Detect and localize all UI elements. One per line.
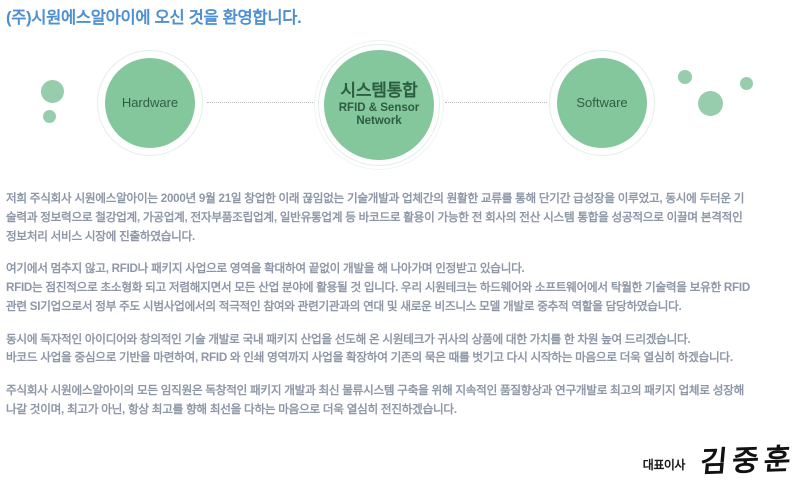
decorative-circle-icon [740,77,753,90]
paragraph-line: 여기에서 멈추지 않고, RFID나 패키지 사업으로 영역을 확대하여 끝없이… [6,260,801,279]
page-title: (주)시원에스알아이에 오신 것을 환영합니다. [6,4,301,28]
software-node-label: Software [576,95,627,110]
connector-hardware-to-center [207,102,315,103]
decorative-circle-icon [41,80,64,103]
paragraph-line: 관련 SI기업으로서 정부 주도 시범사업에서의 적극적인 참여와 관련기관과의… [6,298,801,317]
paragraph-line: 정보처리 서비스 시장에 진출하였습니다. [6,228,801,247]
paragraph-line: 주식회사 시원에스알아이의 모든 임직원은 독창적인 패키지 개발과 최신 물류… [6,382,801,401]
paragraph-4: 주식회사 시원에스알아이의 모든 임직원은 독창적인 패키지 개발과 최신 물류… [6,382,801,420]
signature-role-label: 대표이사 [643,456,685,477]
diagram-node-hardware[interactable]: Hardware [105,58,195,148]
paragraph-1: 저희 주식회사 시원에스알아이는 2000년 9월 21일 창업한 이래 끊임없… [6,190,801,246]
signature-block: 대표이사 김중훈 [643,448,794,477]
paragraph-line: 바코드 사업을 중심으로 기반을 마련하여, RFID 와 인쇄 영역까지 사업… [6,349,801,368]
paragraph-line: 저희 주식회사 시원에스알아이는 2000년 9월 21일 창업한 이래 끊임없… [6,190,801,209]
signature-handwritten-name: 김중훈 [699,445,797,477]
system-integration-subtitle-line2: Network [356,115,401,129]
system-integration-subtitle-line1: RFID & Sensor [339,102,420,116]
welcome-message-body: 저희 주식회사 시원에스알아이는 2000년 9월 21일 창업한 이래 끊임없… [6,190,801,420]
diagram-node-system-integration[interactable]: 시스템통합 RFID & Sensor Network [324,50,434,160]
paragraph-2: 여기에서 멈추지 않고, RFID나 패키지 사업으로 영역을 확대하여 끝없이… [6,260,801,316]
decorative-circle-icon [43,110,56,123]
decorative-circle-icon [698,91,723,116]
business-diagram: Hardware 시스템통합 RFID & Sensor Network Sof… [0,44,806,179]
paragraph-line: 동시에 독자적인 아이디어와 창의적인 기술 개발로 국내 패키지 산업을 선도… [6,331,801,350]
paragraph-line: RFID는 점진적으로 초소형화 되고 저렴해지면서 모든 산업 분야에 활용될… [6,279,801,298]
paragraph-line: 술력과 정보력으로 철강업계, 가공업계, 전자부품조립업계, 일반유통업계 등… [6,209,801,228]
decorative-circle-icon [678,70,692,84]
diagram-node-software[interactable]: Software [557,58,647,148]
paragraph-line: 나갈 것이며, 최고가 아닌, 항상 최고를 향해 최선을 다하는 마음으로 더… [6,401,801,420]
connector-center-to-software [445,102,547,103]
hardware-node-label: Hardware [122,95,178,110]
system-integration-title: 시스템통합 [340,81,417,101]
paragraph-3: 동시에 독자적인 아이디어와 창의적인 기술 개발로 국내 패키지 산업을 선도… [6,331,801,369]
